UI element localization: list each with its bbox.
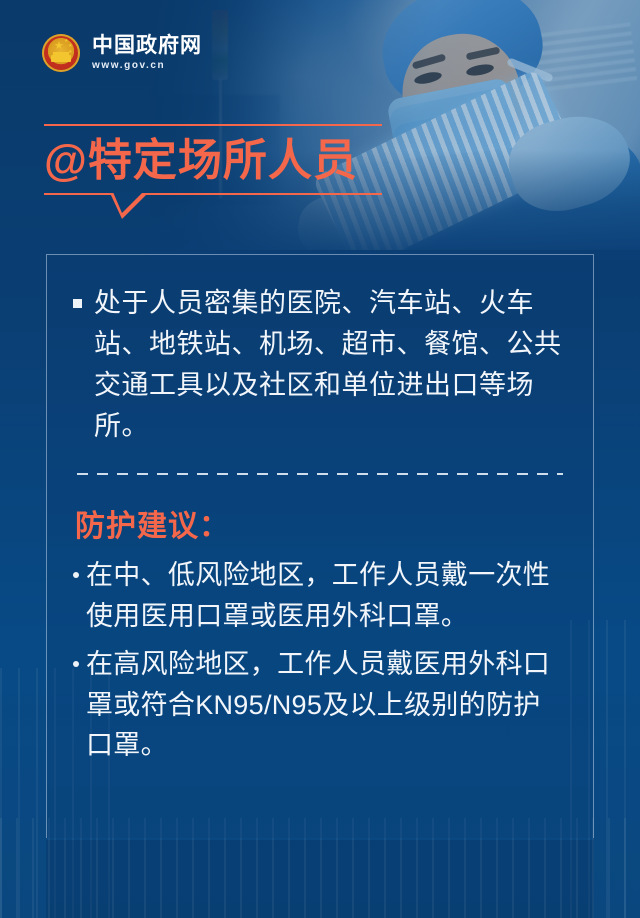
poster-root: ★ ★ ★ ★ ★ 中国政府网 www.gov.cn @特定场所人员 处于人员密… — [0, 0, 640, 918]
page-title: @特定场所人员 — [44, 136, 594, 185]
site-logo[interactable]: ★ ★ ★ ★ ★ 中国政府网 www.gov.cn — [42, 34, 202, 72]
list-item: 在高风险地区，工作人员戴医用外科口罩或符合KN95/N95及以上级别的防护口罩。 — [73, 644, 567, 766]
site-logo-text: 中国政府网 www.gov.cn — [92, 35, 202, 71]
square-bullet-icon — [73, 299, 82, 308]
content-panel: 处于人员密集的医院、汽车站、火车站、地铁站、机场、超市、餐馆、公共交通工具以及社… — [46, 254, 594, 838]
advice-item-text: 在中、低风险地区，工作人员戴一次性使用医用口罩或医用外科口罩。 — [86, 555, 567, 636]
dashed-divider — [77, 473, 563, 475]
lead-paragraph: 处于人员密集的医院、汽车站、火车站、地铁站、机场、超市、餐馆、公共交通工具以及社… — [73, 283, 567, 447]
site-url: www.gov.cn — [92, 61, 202, 71]
content-panel-inner: 处于人员密集的医院、汽车站、火车站、地铁站、机场、超市、餐馆、公共交通工具以及社… — [47, 255, 593, 766]
list-item: 在中、低风险地区，工作人员戴一次性使用医用口罩或医用外科口罩。 — [73, 555, 567, 636]
site-name: 中国政府网 — [92, 35, 202, 56]
hero-title-block: @特定场所人员 — [44, 124, 594, 195]
dot-bullet-icon — [73, 572, 79, 578]
emblem-tiananmen-gate — [51, 55, 71, 62]
emblem-star-large: ★ — [54, 41, 64, 52]
title-rule-bottom — [44, 193, 382, 195]
title-rule-top — [44, 124, 382, 126]
advice-item-text: 在高风险地区，工作人员戴医用外科口罩或符合KN95/N95及以上级别的防护口罩。 — [86, 644, 567, 766]
advice-heading: 防护建议： — [75, 501, 567, 545]
lead-paragraph-text: 处于人员密集的医院、汽车站、火车站、地铁站、机场、超市、餐馆、公共交通工具以及社… — [94, 283, 567, 447]
speech-bubble-tail — [110, 193, 148, 219]
national-emblem-icon: ★ ★ ★ ★ ★ — [42, 34, 80, 72]
dot-bullet-icon — [73, 661, 79, 667]
